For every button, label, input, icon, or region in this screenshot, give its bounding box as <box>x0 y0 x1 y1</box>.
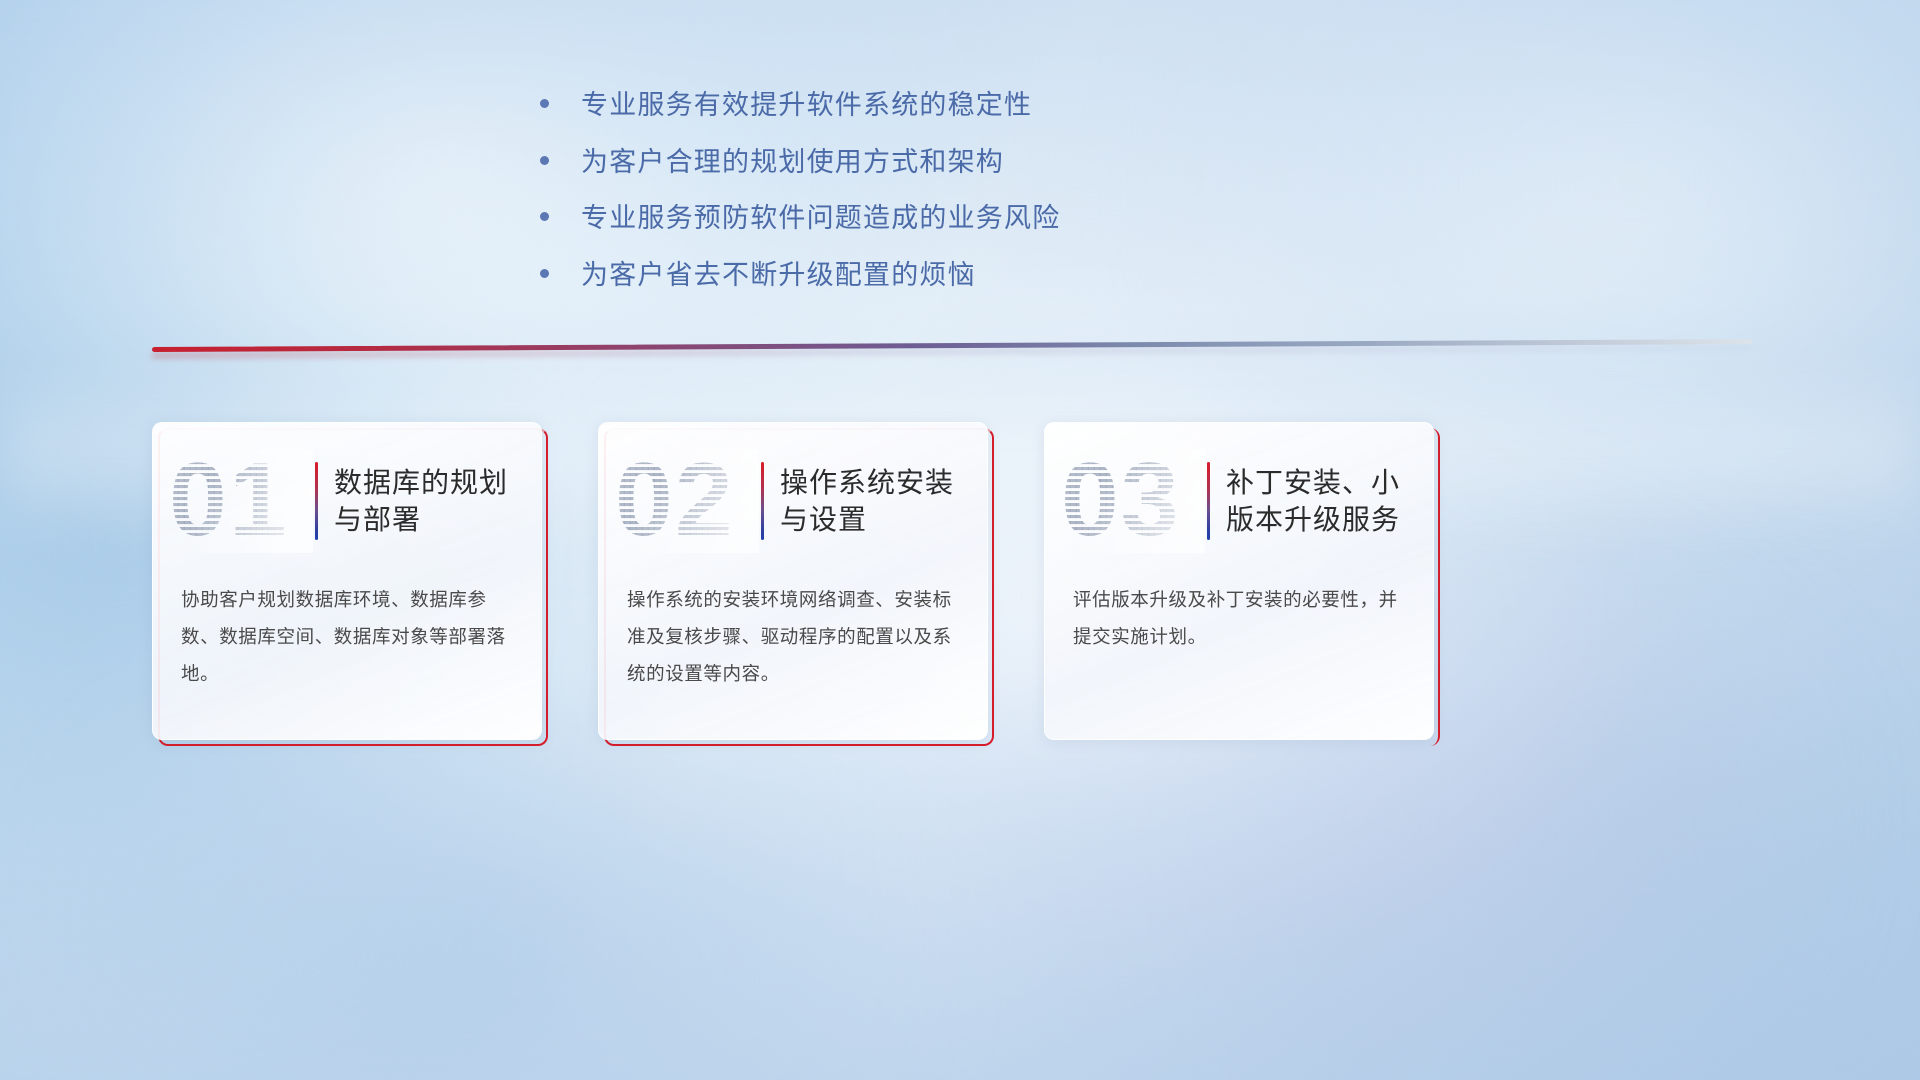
card-divider-bar <box>761 462 764 540</box>
card-description: 协助客户规划数据库环境、数据库参数、数据库空间、数据库对象等部署落地。 <box>181 581 517 692</box>
bullet-text: 为客户省去不断升级配置的烦恼 <box>581 258 976 293</box>
card-header: 03 补丁安装、小版本升级服务 <box>1045 445 1433 557</box>
card-header: 02 操作系统安装与设置 <box>599 445 987 557</box>
service-card-02[interactable]: 02 操作系统安装与设置 操作系统的安装环境网络调查、安装标准及复核步骤、驱动程… <box>598 422 988 740</box>
bullet-text: 专业服务有效提升软件系统的稳定性 <box>581 88 1032 123</box>
card-surface: 01 数据库的规划与部署 协助客户规划数据库环境、数据库参数、数据库空间、数据库… <box>152 422 542 740</box>
bullet-dot-icon <box>540 156 549 165</box>
card-divider-bar <box>1207 462 1210 540</box>
service-card-01[interactable]: 01 数据库的规划与部署 协助客户规划数据库环境、数据库参数、数据库空间、数据库… <box>152 422 542 740</box>
section-divider <box>152 345 1752 359</box>
list-item: 专业服务有效提升软件系统的稳定性 <box>540 88 1160 123</box>
bullet-dot-icon <box>540 99 549 108</box>
service-card-03[interactable]: 03 补丁安装、小版本升级服务 评估版本升级及补丁安装的必要性，并提交实施计划。 <box>1044 422 1434 740</box>
card-title: 补丁安装、小版本升级服务 <box>1226 464 1426 538</box>
bullet-dot-icon <box>540 269 549 278</box>
list-item: 专业服务预防软件问题造成的业务风险 <box>540 201 1160 236</box>
list-item: 为客户合理的规划使用方式和架构 <box>540 145 1160 180</box>
benefits-bullet-list: 专业服务有效提升软件系统的稳定性 为客户合理的规划使用方式和架构 专业服务预防软… <box>540 88 1160 314</box>
card-number-02-graphic: 02 <box>613 449 759 553</box>
service-card-row: 01 数据库的规划与部署 协助客户规划数据库环境、数据库参数、数据库空间、数据库… <box>152 422 1768 740</box>
bullet-dot-icon <box>540 212 549 221</box>
card-header: 01 数据库的规划与部署 <box>153 445 541 557</box>
card-surface: 03 补丁安装、小版本升级服务 评估版本升级及补丁安装的必要性，并提交实施计划。 <box>1044 422 1434 740</box>
card-description: 操作系统的安装环境网络调查、安装标准及复核步骤、驱动程序的配置以及系统的设置等内… <box>627 581 963 692</box>
card-number-01-graphic: 01 <box>167 449 313 553</box>
card-divider-bar <box>315 462 318 540</box>
card-number-03-graphic: 03 <box>1059 449 1205 553</box>
bullet-text: 为客户合理的规划使用方式和架构 <box>581 145 1004 180</box>
card-surface: 02 操作系统安装与设置 操作系统的安装环境网络调查、安装标准及复核步骤、驱动程… <box>598 422 988 740</box>
list-item: 为客户省去不断升级配置的烦恼 <box>540 258 1160 293</box>
card-title: 操作系统安装与设置 <box>780 464 980 538</box>
bullet-text: 专业服务预防软件问题造成的业务风险 <box>581 201 1060 236</box>
card-title: 数据库的规划与部署 <box>334 464 534 538</box>
card-description: 评估版本升级及补丁安装的必要性，并提交实施计划。 <box>1073 581 1409 655</box>
